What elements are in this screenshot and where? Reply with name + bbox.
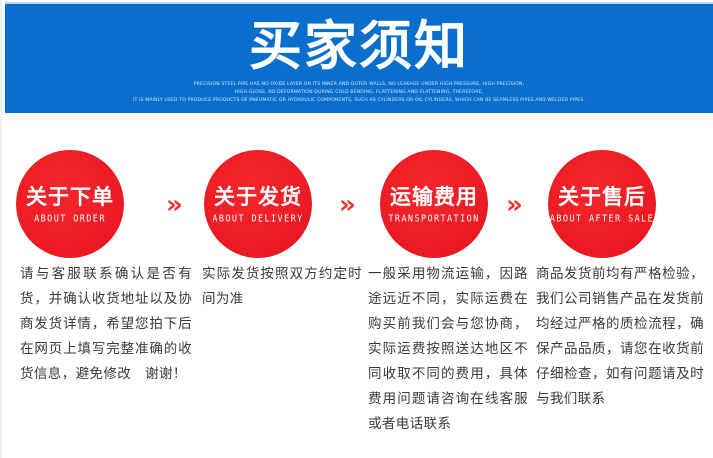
step-label-en-after-sale: ABOUT AFTER SALE xyxy=(550,213,654,225)
step-description-order: 请与客服联系确认是否有货，并确认收货地址以及协商发货详情，希望您拍下后在网页上填… xyxy=(20,262,192,387)
header-banner: 买家须知 PRECISION STEEL PIPE HAS NO OXIDE L… xyxy=(5,2,713,113)
step-badge-after-sale[interactable]: 关于售后 ABOUT AFTER SALE xyxy=(548,150,666,258)
banner-subtitle-line-1: PRECISION STEEL PIPE HAS NO OXIDE LAYER … xyxy=(5,81,713,89)
step-label-cn-order: 关于下单 xyxy=(26,185,114,209)
step-description-transportation: 一般采用物流运输，因路途远近不同，实际运费在购买前我们会与您协商，实际运费按照送… xyxy=(368,262,528,437)
steps-description-row: 请与客服联系确认是否有货，并确认收货地址以及协商发货详情，希望您拍下后在网页上填… xyxy=(2,262,713,442)
circle-shape-after-sale: 关于售后 ABOUT AFTER SALE xyxy=(548,150,656,258)
step-label-en-order: ABOUT ORDER xyxy=(34,213,106,225)
step-label-cn-transportation: 运输费用 xyxy=(390,185,478,209)
circle-shape-delivery: 关于发货 ABOUT DELIVERY xyxy=(204,150,312,258)
page-title: 买家须知 xyxy=(5,16,713,78)
chevron-right-icon-3: » xyxy=(506,192,523,218)
steps-row: 关于下单 ABOUT ORDER » 关于发货 ABOUT DELIVERY »… xyxy=(2,150,713,260)
step-badge-about-delivery[interactable]: 关于发货 ABOUT DELIVERY xyxy=(204,150,322,258)
step-badge-about-order[interactable]: 关于下单 ABOUT ORDER xyxy=(16,150,134,258)
banner-subtitle-line-2: HIGH GLOSS, NO DEFORMATION DURING COLD B… xyxy=(5,89,713,97)
circle-shape-transportation: 运输费用 TRANSPORTATION xyxy=(380,150,488,258)
chevron-right-icon-1: » xyxy=(166,192,183,218)
step-label-en-transportation: TRANSPORTATION xyxy=(388,213,479,225)
step-label-en-delivery: ABOUT DELIVERY xyxy=(212,213,303,225)
buyer-notice-page: 买家须知 PRECISION STEEL PIPE HAS NO OXIDE L… xyxy=(0,0,713,458)
step-badge-transportation[interactable]: 运输费用 TRANSPORTATION xyxy=(380,150,498,258)
step-description-after-sale: 商品发货前均有严格检验，我们公司销售产品在发货前均经过严格的质检流程，确保产品品… xyxy=(536,262,704,412)
circle-shape-order: 关于下单 ABOUT ORDER xyxy=(16,150,124,258)
step-description-delivery: 实际发货按照双方约定时间为准 xyxy=(202,262,362,312)
banner-subtitle-line-3: IT IS MAINLY USED TO PRODUCE PRODUCTS OF… xyxy=(5,97,713,105)
step-label-cn-after-sale: 关于售后 xyxy=(558,185,646,209)
step-label-cn-delivery: 关于发货 xyxy=(214,185,302,209)
banner-subtitle: PRECISION STEEL PIPE HAS NO OXIDE LAYER … xyxy=(5,81,713,106)
chevron-right-icon-2: » xyxy=(339,192,356,218)
